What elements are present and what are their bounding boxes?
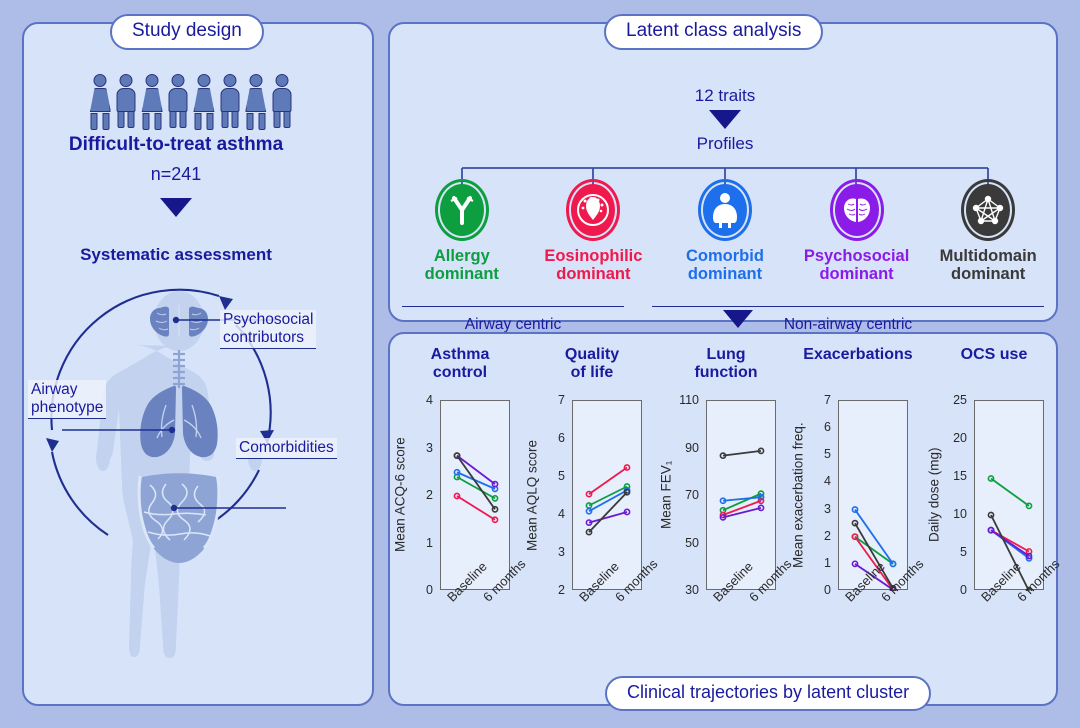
x-axis-labels: Baseline6 months (528, 594, 656, 664)
y-axis-ticks: 01234567 (808, 400, 834, 590)
profile-label-line2: dominant (951, 265, 1025, 283)
y-tick-label: 7 (558, 393, 565, 407)
person-icon (269, 74, 294, 128)
y-tick-label: 5 (960, 545, 967, 559)
y-tick-label: 4 (426, 393, 433, 407)
plot-area: Daily dose (mg)0510152025 (930, 400, 1058, 590)
profile-comorbid-dominant[interactable]: Comorbid dominant (659, 179, 791, 289)
y-tick-label: 3 (426, 441, 433, 455)
assessment-label: Systematic assessment (0, 245, 352, 265)
person-icon (166, 74, 191, 128)
plot-area: Mean exacerbation freq.01234567 (794, 400, 922, 590)
obese-person-icon (698, 179, 752, 241)
y-tick-label: 50 (685, 536, 699, 550)
profile-label-line2: dominant (425, 265, 499, 283)
down-arrow-icon (709, 110, 741, 129)
chart-title: OCS use (930, 346, 1058, 364)
y-tick-label: 5 (558, 469, 565, 483)
divider-airway (402, 306, 624, 307)
plot-area: Mean FEV₁30507090110 (662, 400, 790, 590)
panel-latent-class-analysis: 12 traits Profiles (388, 22, 1058, 322)
series-multidomain-dominant (454, 453, 497, 512)
y-tick-label: 3 (824, 502, 831, 516)
y-tick-label: 6 (824, 420, 831, 434)
chart-ocs-use: OCS useDaily dose (mg)0510152025Baseline… (930, 342, 1058, 672)
intestines-icon (139, 473, 219, 563)
annotation-line-2: contributors (223, 329, 304, 346)
lca-output-label: Profiles (390, 134, 1060, 154)
annotation-comorbidities: Comorbidities (236, 438, 337, 459)
trajectory-charts: AsthmacontrolMean ACQ-6 score01234Baseli… (396, 342, 1058, 672)
person-icon (243, 74, 268, 128)
figure-root: Study design Difficult-to-treat asthma n… (0, 0, 1080, 728)
annotation-airway-phenotype: Airway phenotype (28, 380, 106, 419)
chart-lung-function: LungfunctionMean FEV₁30507090110Baseline… (662, 342, 790, 672)
profile-label-line2: dominant (688, 265, 762, 283)
x-axis-labels: Baseline6 months (662, 594, 790, 664)
person-icon (88, 74, 113, 128)
y-axis-ticks: 234567 (542, 400, 568, 590)
profile-label-line2: dominant (819, 265, 893, 283)
x-axis-labels: Baseline6 months (930, 594, 1058, 664)
y-tick-label: 6 (558, 431, 565, 445)
people-icon-row (88, 72, 294, 128)
chart-asthma-control: AsthmacontrolMean ACQ-6 score01234Baseli… (396, 342, 524, 672)
y-tick-label: 110 (679, 393, 699, 407)
panel-title-clinical-trajectories: Clinical trajectories by latent cluster (605, 676, 931, 711)
eosinophil-cell-icon (566, 179, 620, 241)
series-multidomain-dominant (720, 448, 763, 458)
series-comorbid-dominant (852, 507, 895, 566)
annotation-line-1: Psychosocial (223, 311, 313, 328)
y-tick-label: 70 (685, 488, 699, 502)
y-tick-label: 4 (558, 507, 565, 521)
profile-eosinophilic-dominant[interactable]: Eosinophilic dominant (528, 179, 660, 289)
y-tick-label: 7 (824, 393, 831, 407)
annotation-line-1: Comorbidities (239, 439, 334, 456)
y-tick-label: 2 (426, 488, 433, 502)
panel-title-latent-class-analysis: Latent class analysis (604, 14, 823, 50)
person-icon (217, 74, 242, 128)
profile-label-line1: Allergy (434, 247, 490, 265)
person-icon (192, 74, 217, 128)
y-axis-label: Daily dose (mg) (924, 400, 944, 590)
y-tick-label: 3 (558, 545, 565, 559)
profile-label-line1: Psychosocial (804, 247, 909, 265)
y-axis-label: Mean ACQ-6 score (390, 400, 410, 590)
y-tick-label: 25 (953, 393, 967, 407)
profiles-row: Allergy dominant (396, 179, 1054, 289)
plot-area: Mean ACQ-6 score01234 (396, 400, 524, 590)
chart-quality-of-life: Qualityof lifeMean AQLQ score234567Basel… (528, 342, 656, 672)
profile-allergy-dominant[interactable]: Allergy dominant (396, 179, 528, 289)
chart-title: Lungfunction (662, 346, 790, 382)
profile-label-line1: Multidomain (940, 247, 1037, 265)
y-axis-ticks: 30507090110 (676, 400, 702, 590)
y-axis-label: Mean exacerbation freq. (788, 400, 808, 590)
plot-area: Mean AQLQ score234567 (528, 400, 656, 590)
x-axis-labels: Baseline6 months (396, 594, 524, 664)
annotation-line-1: Airway (31, 381, 78, 398)
person-icon (114, 74, 139, 128)
divider-non-airway (652, 306, 1044, 307)
body-diagram: Psychosocial contributors Airway phenoty… (24, 280, 334, 690)
y-tick-label: 4 (824, 474, 831, 488)
y-tick-label: 10 (953, 507, 967, 521)
y-tick-label: 1 (426, 536, 433, 550)
network-nodes-icon (961, 179, 1015, 241)
annotation-psychosocial-contributors: Psychosocial contributors (220, 310, 316, 349)
chart-title: Qualityof life (528, 346, 656, 382)
profile-label-line1: Comorbid (686, 247, 764, 265)
y-axis-label: Mean AQLQ score (522, 400, 542, 590)
chart-title: Exacerbations (794, 346, 922, 364)
down-arrow-icon (723, 310, 753, 328)
brain-icon (830, 179, 884, 241)
profile-label-line2: dominant (556, 265, 630, 283)
chart-exacerbations: ExacerbationsMean exacerbation freq.0123… (794, 342, 922, 672)
y-tick-label: 2 (824, 529, 831, 543)
person-icon (140, 74, 165, 128)
profile-label-line1: Eosinophilic (544, 247, 642, 265)
panel-title-study-design: Study design (110, 14, 264, 50)
y-axis-ticks: 01234 (410, 400, 436, 590)
chart-title: Asthmacontrol (396, 346, 524, 382)
y-tick-label: 20 (953, 431, 967, 445)
cohort-label: Difficult-to-treat asthma (0, 134, 352, 156)
y-tick-label: 90 (685, 441, 699, 455)
y-tick-label: 1 (824, 556, 831, 570)
profile-multidomain-dominant[interactable]: Multidomain dominant (922, 179, 1054, 289)
annotation-line-2: phenotype (31, 399, 103, 416)
x-axis-labels: Baseline6 months (794, 594, 922, 664)
y-axis-ticks: 0510152025 (944, 400, 970, 590)
y-tick-label: 5 (824, 447, 831, 461)
series-allergy-dominant (988, 476, 1031, 509)
down-arrow-icon (160, 198, 192, 217)
series-eosinophilic-dominant (988, 528, 1031, 554)
lca-input-label: 12 traits (390, 86, 1060, 106)
profile-psychosocial-dominant[interactable]: Psychosocial dominant (791, 179, 923, 289)
cohort-sample-size: n=241 (0, 164, 352, 185)
y-axis-label: Mean FEV₁ (656, 400, 676, 590)
y-tick-label: 15 (953, 469, 967, 483)
antibody-icon (435, 179, 489, 241)
series-eosinophilic-dominant (454, 493, 497, 522)
